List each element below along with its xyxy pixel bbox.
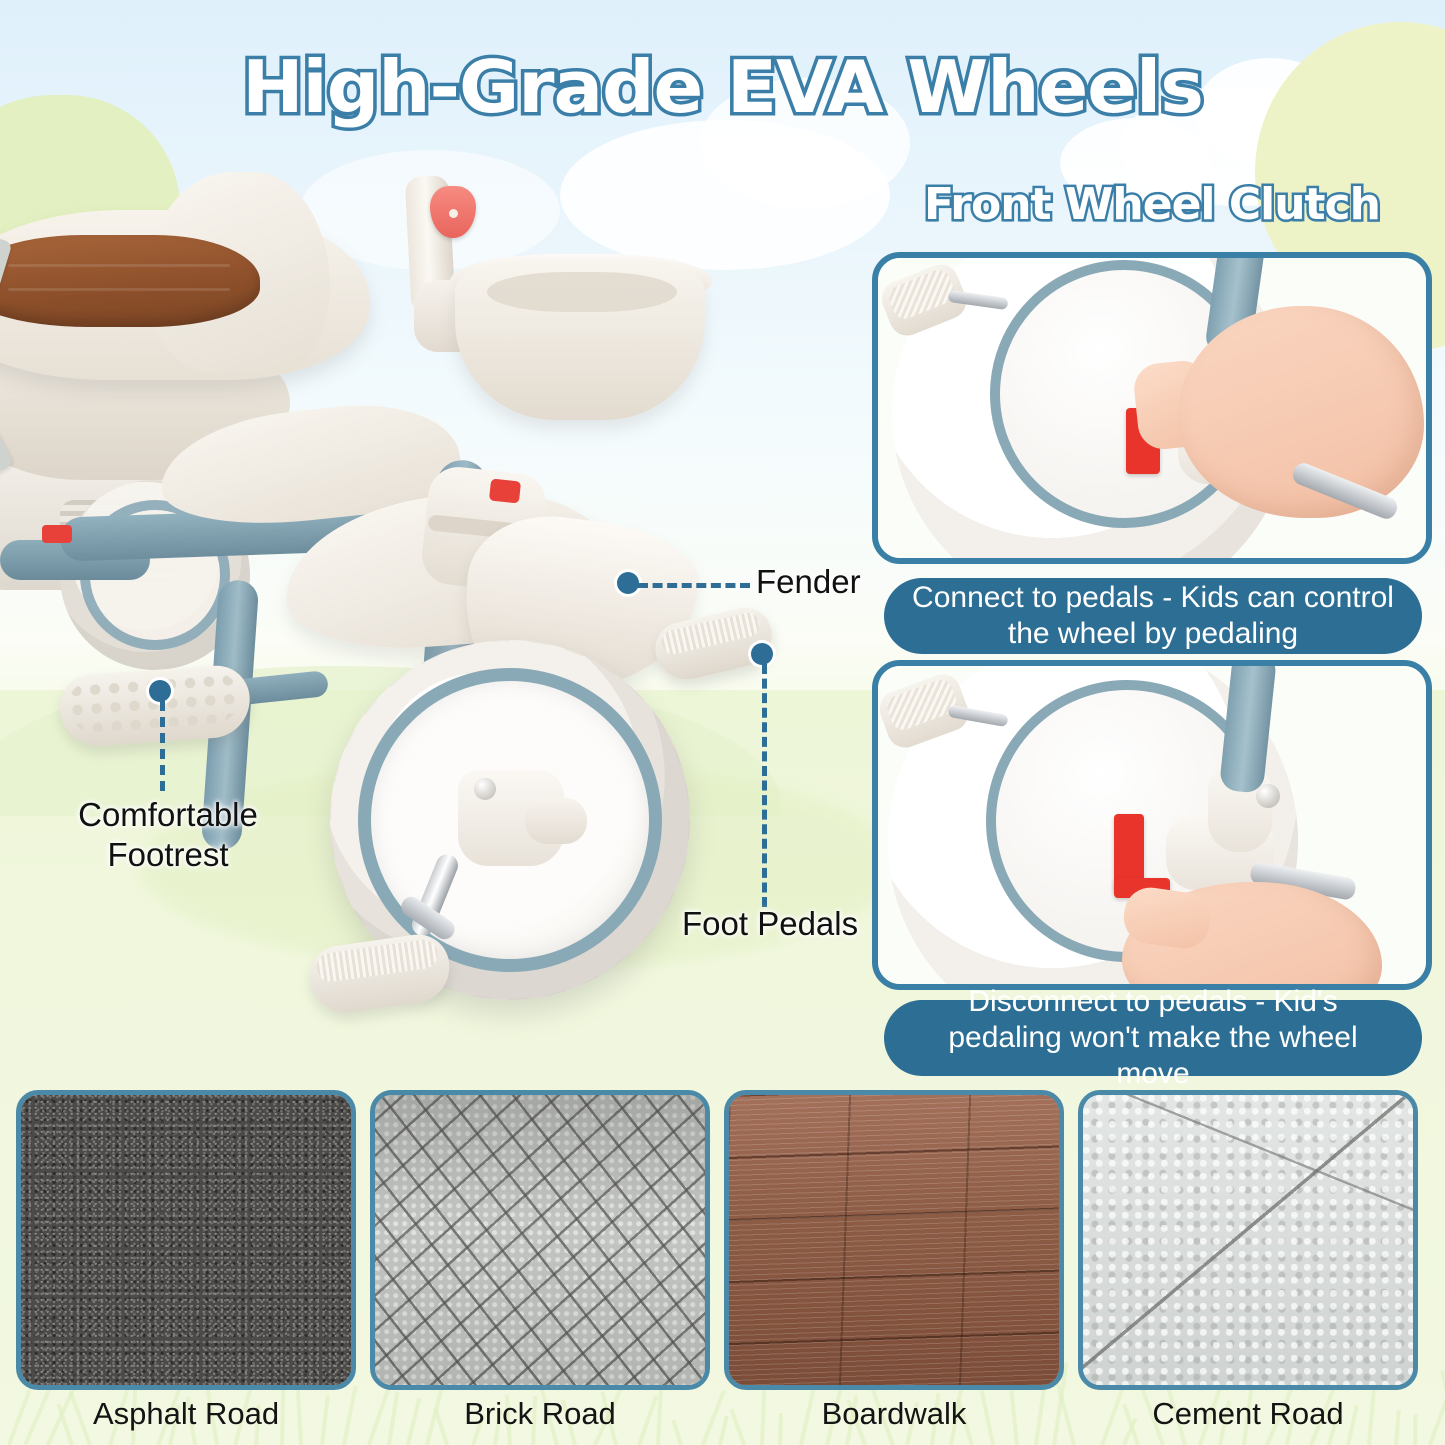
- clutch-photo-disconnect: [878, 666, 1426, 984]
- red-release-lever-icon: [430, 186, 476, 238]
- clutch-photo-connect: [878, 258, 1426, 558]
- callout-dot-footrest: [149, 680, 171, 702]
- caption-connect: Connect to pedals - Kids can control the…: [884, 578, 1422, 654]
- hand: [1178, 306, 1424, 518]
- callout-label-foot-pedals: Foot Pedals: [682, 905, 858, 943]
- red-button-icon: [42, 525, 72, 543]
- pedal-texture: [884, 677, 960, 733]
- callout-line-fender: [638, 583, 750, 588]
- surface-label-brick: Brick Road: [370, 1396, 710, 1432]
- infographic-canvas: High-Grade EVA Wheels Front Wheel Clutch: [0, 0, 1445, 1445]
- caption-disconnect: Disconnect to pedals - Kid's pedaling wo…: [884, 1000, 1422, 1076]
- surface-sample-cement: [1078, 1090, 1418, 1390]
- screw-icon: [474, 778, 496, 800]
- brick-texture: [375, 1095, 705, 1385]
- basket-interior: [487, 272, 677, 312]
- wheel-hub-cap: [525, 798, 587, 844]
- surface-sample-boardwalk: [724, 1090, 1064, 1390]
- callout-line-footrest: [160, 701, 165, 791]
- red-button-icon: [489, 478, 521, 503]
- surface-sample-asphalt: [16, 1090, 356, 1390]
- clutch-panel-disconnect: [872, 660, 1432, 990]
- surface-label-cement: Cement Road: [1078, 1396, 1418, 1432]
- callout-label-footrest: Comfortable Footrest: [68, 795, 268, 875]
- callout-dot-fender: [617, 572, 639, 594]
- clutch-panel-connect: [872, 252, 1432, 564]
- foot-pedal: [306, 931, 454, 1018]
- callout-label-fender: Fender: [756, 563, 861, 601]
- surface-label-asphalt: Asphalt Road: [16, 1396, 356, 1432]
- seat-cushion: [0, 235, 260, 327]
- page-title: High-Grade EVA Wheels: [0, 48, 1445, 126]
- surface-sample-brick: [370, 1090, 710, 1390]
- asphalt-texture: [21, 1095, 351, 1385]
- pedal-texture: [886, 267, 958, 322]
- pedal-texture: [315, 938, 440, 983]
- screw-icon: [1256, 784, 1280, 808]
- cement-texture: [1083, 1095, 1413, 1385]
- surface-label-boardwalk: Boardwalk: [724, 1396, 1064, 1432]
- footrest-texture: [66, 670, 241, 734]
- callout-line-foot-pedals: [762, 664, 767, 907]
- footrest: [58, 663, 253, 748]
- section-title-front-wheel-clutch: Front Wheel Clutch: [866, 180, 1438, 230]
- callout-dot-foot-pedals: [751, 643, 773, 665]
- wood-texture: [729, 1095, 1059, 1385]
- tricycle-product-photo: [0, 180, 880, 1080]
